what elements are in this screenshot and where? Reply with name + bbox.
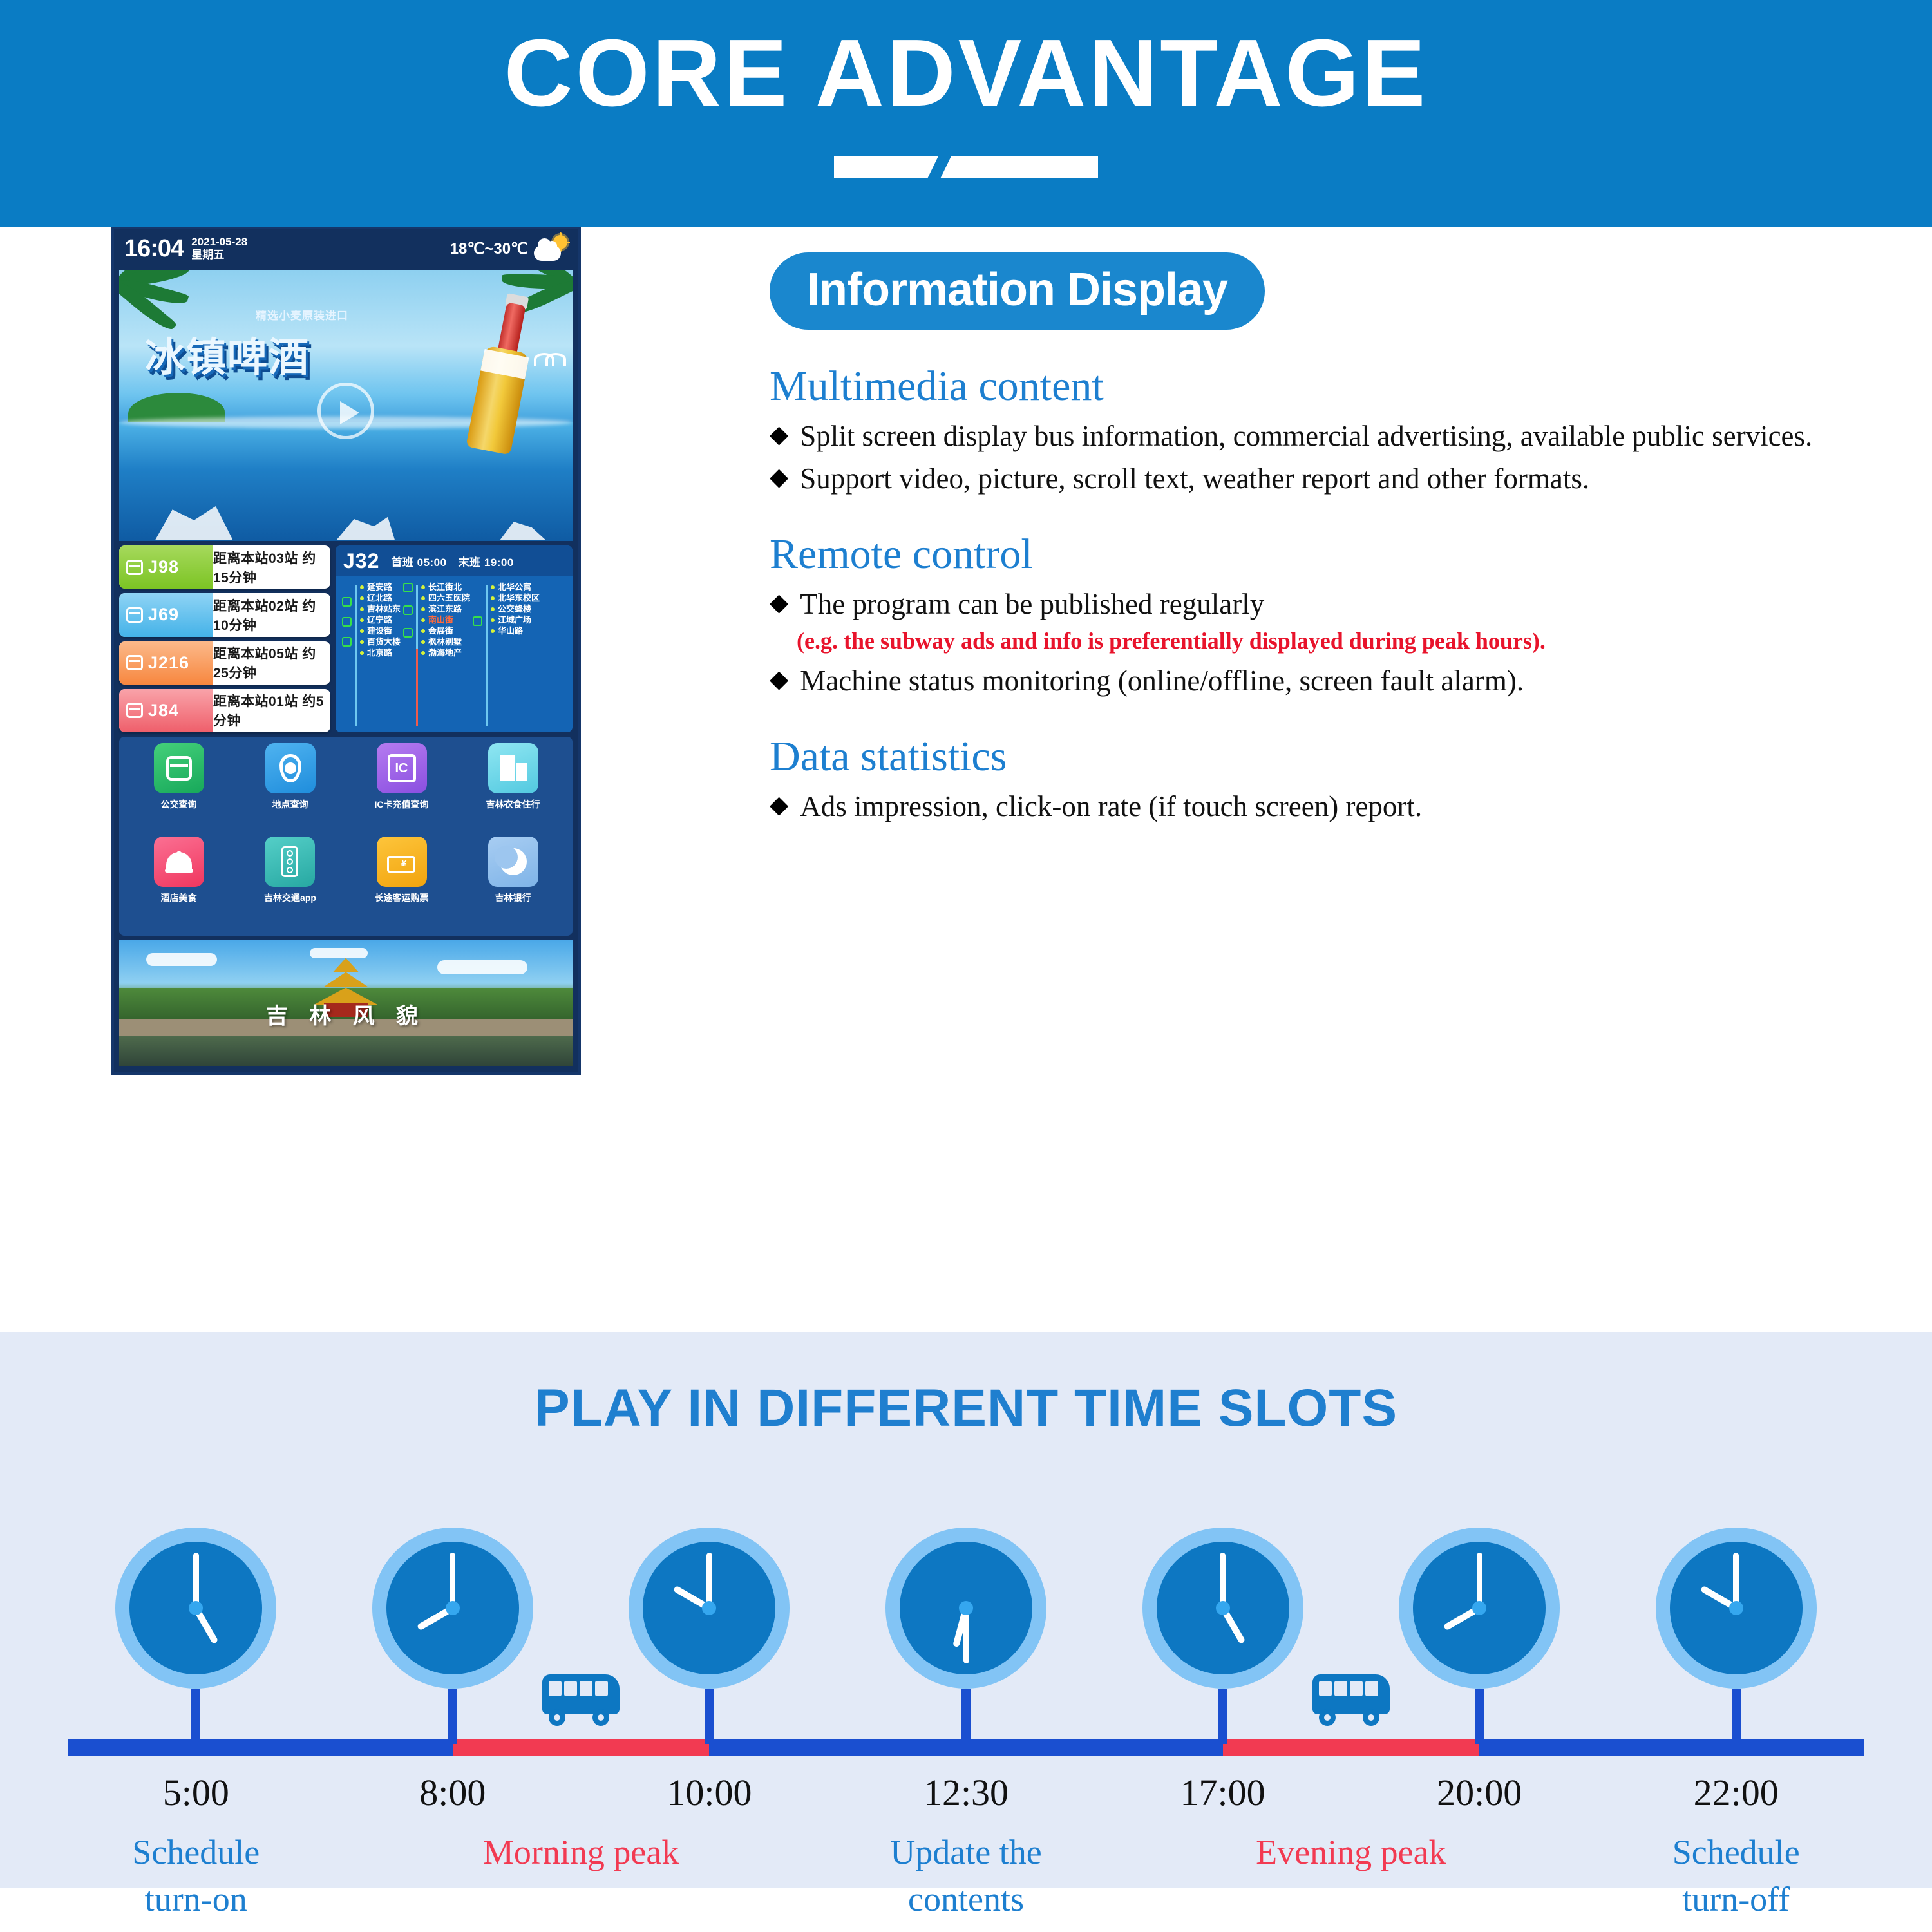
section-title-multimedia: Multimedia content [770,363,1909,410]
bullet-text: Machine status monitoring (online/offlin… [800,661,1909,700]
route-stop: 滨江东路 [421,605,470,614]
moon-logo-icon [488,837,538,887]
route-panel-header: J32 首班 05:00 末班 19:00 [336,545,573,576]
kiosk-date-block: 2021-05-28 星期五 [191,236,247,261]
bus-icon [542,1674,625,1734]
bus-icon [403,605,413,615]
route-stop: 北京路 [360,649,401,658]
timeline-time-label: 17:00 [1139,1771,1307,1814]
bus-arrival-row[interactable]: J69 距离本站02站 约10分钟 [119,593,330,636]
bus-route-badge: J98 [119,545,213,589]
bus-arrival-info: 距离本站02站 约10分钟 [213,593,330,636]
bus-icon [342,597,352,607]
timeline-time-label: 8:00 [369,1771,536,1814]
app-tile-location-query[interactable]: 地点查询 [265,743,316,837]
bus-arrival-info: 距离本站03站 约15分钟 [213,545,330,589]
bullet-text: Split screen display bus information, co… [800,417,1909,455]
bullet-item: ◆ The program can be published regularly [770,585,1909,623]
timeline-caption: Scheduleturn-off [1601,1829,1871,1923]
timeline-stem [1475,1689,1484,1744]
clock-icon [1656,1528,1817,1689]
timeline-caption: Update thecontents [831,1829,1101,1923]
route-last-bus: 末班 19:00 [459,553,514,569]
clock-icon [1399,1528,1560,1689]
timeline-chart: 5:008:0010:0012:3017:0020:0022:00Schedul… [68,1468,1864,1855]
page-title: CORE ADVANTAGE [0,22,1932,125]
timeline-section: PLAY IN DIFFERENT TIME SLOTS 5:008:0010:… [0,1332,1932,1888]
bus-arrival-row[interactable]: J98 距离本站03站 约15分钟 [119,545,330,589]
bus-icon [126,655,143,670]
sun-behind-cloud-icon [534,235,569,262]
route-stop: 枫林别墅 [421,638,470,647]
kiosk-scenery-photo[interactable]: 吉 林 风 貌 [119,940,573,1066]
clock-icon [115,1528,276,1689]
route-stop: 公交蜂楼 [491,605,540,614]
kiosk-ad-subline: 精选小麦原装进口 [256,307,348,323]
bus-icon [1312,1674,1395,1734]
bullet-item: ◆ Split screen display bus information, … [770,417,1909,455]
kiosk-app-grid: 公交查询 地点查询 IC IC卡充值查询 吉林衣食住行 酒店美食 [119,737,573,936]
bullet-text: Ads impression, click-on rate (if touch … [800,787,1909,826]
bus-icon [154,743,204,793]
route-stop: 北华东校区 [491,594,540,603]
timeline-title: PLAY IN DIFFERENT TIME SLOTS [0,1378,1932,1439]
building-icon [488,743,538,793]
bullet-item: ◆ Ads impression, click-on rate (if touc… [770,787,1909,826]
bus-route-badge: J216 [119,641,213,685]
bus-icon [126,607,143,623]
timeline-time-label: 20:00 [1396,1771,1563,1814]
route-column: 延安路 辽北路 吉林站东 辽宁路 建设街 百货大楼 北京路 [342,583,401,728]
timeline-caption: Morning peak [446,1829,716,1876]
play-button-icon[interactable] [317,383,374,439]
route-first-bus: 首班 05:00 [391,553,446,569]
section-title-remote-control: Remote control [770,531,1909,578]
remote-control-note: (e.g. the subway ads and info is prefere… [797,626,1909,656]
kiosk-ad-headline: 冰镇啤酒 [145,325,310,383]
timeline-time-label: 22:00 [1653,1771,1820,1814]
clock-icon [629,1528,790,1689]
bullet-text: Support video, picture, scroll text, wea… [800,459,1909,498]
app-tile-ic-card-recharge[interactable]: IC IC卡充值查询 [375,743,429,837]
route-stop: 长江街北 [421,583,470,592]
app-tile-jilin-traffic-app[interactable]: 吉林交通app [264,837,316,930]
kiosk-screen-preview: 16:04 2021-05-28 星期五 18℃~30℃ 精选小麦原装进口 [111,225,581,1075]
ic-card-icon: IC [377,743,427,793]
route-number: J32 [343,549,379,573]
route-stop-highlighted: 南山街 [421,616,470,625]
timeline-peak-segment [1223,1739,1480,1756]
timeline-stem [705,1689,714,1744]
timeline-peak-segment [453,1739,710,1756]
kiosk-route-panel[interactable]: J32 首班 05:00 末班 19:00 延安路 辽北路 吉林站东 [336,545,573,732]
bus-icon [403,583,413,592]
bus-icon [342,637,352,647]
header-divider [834,156,1098,178]
timeline-time-label: 5:00 [112,1771,279,1814]
route-stop: 会展街 [421,627,470,636]
bus-route-badge: J69 [119,593,213,636]
food-cloche-icon [154,837,204,887]
seagull-icon [534,353,563,367]
bus-arrival-row[interactable]: J84 距离本站01站 约5分钟 [119,689,330,732]
bus-icon [342,617,352,627]
app-tile-jilin-bank[interactable]: 吉林银行 [488,837,538,930]
page-header: CORE ADVANTAGE [0,0,1932,227]
kiosk-date: 2021-05-28 [191,236,247,249]
map-pin-icon [265,743,316,793]
clock-icon [885,1528,1046,1689]
bus-arrival-row[interactable]: J216 距离本站05站 约25分钟 [119,641,330,685]
timeline-stem [448,1689,457,1744]
ticket-icon: ¥ [377,837,427,887]
traffic-light-icon [265,837,315,887]
kiosk-clock: 16:04 [124,235,184,263]
kiosk-bus-section: J98 距离本站03站 约15分钟 J69 距离本站02站 约10分钟 J216… [119,545,573,732]
bullet-item: ◆ Machine status monitoring (online/offl… [770,661,1909,700]
app-tile-bus-query[interactable]: 公交查询 [154,743,204,837]
route-column: 北华公寓 北华东校区 公交蜂楼 江城广场 华山路 [473,583,540,728]
route-stop: 建设街 [360,627,401,636]
kiosk-status-bar: 16:04 2021-05-28 星期五 18℃~30℃ [114,229,578,269]
timeline-caption: Scheduleturn-on [61,1829,331,1923]
bus-arrival-info: 距离本站01站 约5分钟 [213,689,330,732]
kiosk-weather: 18℃~30℃ [450,235,569,262]
route-stop: 北华公寓 [491,583,540,592]
palm-tree-icon [119,270,205,332]
bus-route-badge: J84 [119,689,213,732]
diamond-bullet-icon: ◆ [770,787,788,824]
bus-icon [403,628,413,638]
kiosk-photo-caption: 吉 林 风 貌 [119,998,573,1030]
timeline-time-label: 10:00 [625,1771,793,1814]
bus-icon [473,616,482,626]
clock-icon [1142,1528,1303,1689]
route-stop: 辽宁路 [360,616,401,625]
timeline-stem [961,1689,971,1744]
diamond-bullet-icon: ◆ [770,585,788,621]
route-column: 长江街北 四六五医院 滨江东路 南山街 会展街 枫林别墅 渤海地产 [403,583,470,728]
kiosk-weekday: 星期五 [191,249,247,261]
route-stop: 辽北路 [360,594,401,603]
timeline-stem [1732,1689,1741,1744]
timeline-stem [191,1689,200,1744]
information-display-pill: Information Display [770,252,1265,330]
app-tile-hotel-food[interactable]: 酒店美食 [154,837,204,930]
timeline-time-label: 12:30 [882,1771,1050,1814]
route-stop: 百货大楼 [360,638,401,647]
feature-content-column: Information Display Multimedia content ◆… [770,252,1909,826]
route-stop: 华山路 [491,627,540,636]
diamond-bullet-icon: ◆ [770,417,788,453]
route-stop: 渤海地产 [421,649,470,658]
clock-icon [372,1528,533,1689]
section-title-data-statistics: Data statistics [770,734,1909,781]
bus-icon [126,703,143,718]
timeline-caption: Evening peak [1216,1829,1486,1876]
bus-arrival-info: 距离本站05站 约25分钟 [213,641,330,685]
route-stop-columns: 延安路 辽北路 吉林站东 辽宁路 建设街 百货大楼 北京路 [336,576,573,732]
kiosk-ad-banner[interactable]: 精选小麦原装进口 冰镇啤酒 [119,270,573,541]
bus-icon [126,560,143,575]
diamond-bullet-icon: ◆ [770,459,788,496]
diamond-bullet-icon: ◆ [770,661,788,698]
route-stop: 延安路 [360,583,401,592]
app-tile-jilin-living[interactable]: 吉林衣食住行 [486,743,540,837]
bullet-item: ◆ Support video, picture, scroll text, w… [770,459,1909,498]
route-stop: 吉林站东 [360,605,401,614]
kiosk-temperature: 18℃~30℃ [450,240,528,258]
route-stop: 四六五医院 [421,594,470,603]
route-stop: 江城广场 [491,616,540,625]
bullet-text: The program can be published regularly [800,585,1909,623]
kiosk-bus-arrival-list: J98 距离本站03站 约15分钟 J69 距离本站02站 约10分钟 J216… [119,545,330,732]
timeline-stem [1218,1689,1227,1744]
app-tile-coach-ticket[interactable]: ¥ 长途客运购票 [375,837,429,930]
